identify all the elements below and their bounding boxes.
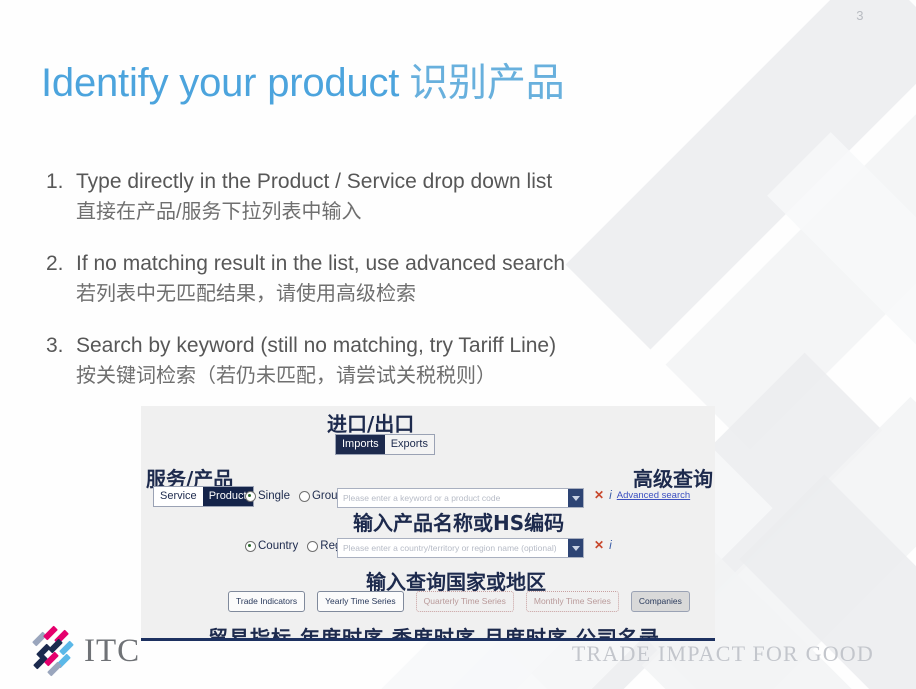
list-item: 2. If no matching result in the list, us… — [46, 249, 746, 309]
list-item-number: 1. — [46, 167, 76, 227]
advanced-search-link[interactable]: Advanced search — [617, 490, 690, 501]
list-item-number: 3. — [46, 331, 76, 391]
annotation-bottom-tabs: 贸易指标 年度时序 季度时序 月度时序 公司名录 — [208, 622, 660, 638]
radio-indicator-country[interactable] — [245, 541, 256, 552]
tab-exports[interactable]: Exports — [385, 435, 434, 454]
chevron-down-icon[interactable] — [568, 489, 583, 507]
clear-icon[interactable]: ✕ — [594, 538, 604, 552]
button-monthly-time-series[interactable]: Monthly Time Series — [526, 591, 619, 612]
list-item-text-zh: 若列表中无匹配结果，请使用高级检索 — [76, 279, 746, 309]
list-item: 3. Search by keyword (still no matching,… — [46, 331, 746, 391]
product-row-actions: ✕ i Advanced search — [594, 488, 690, 502]
instruction-list: 1. Type directly in the Product / Servic… — [46, 167, 746, 413]
radio-single[interactable]: Single — [245, 490, 290, 502]
annotation-product-hint: 输入产品名称或HS编码 — [353, 507, 564, 536]
itc-logo-text: ITC — [84, 633, 140, 670]
page-title-en: Identify your product — [41, 61, 399, 105]
footer-tagline: TRADE IMPACT FOR GOOD — [572, 641, 874, 667]
button-companies[interactable]: Companies — [631, 591, 690, 612]
country-search-input[interactable]: Please enter a country/territory or regi… — [338, 539, 568, 557]
list-item-text-zh: 直接在产品/服务下拉列表中输入 — [76, 197, 746, 227]
page-number: 3 — [856, 8, 864, 23]
list-item-text-en: Type directly in the Product / Service d… — [76, 167, 746, 197]
info-icon[interactable]: i — [609, 488, 612, 502]
page-title: Identify your product识别产品 — [41, 52, 564, 108]
radio-indicator-group[interactable] — [299, 491, 310, 502]
country-search-combo[interactable]: Please enter a country/territory or regi… — [337, 538, 584, 558]
slide: 3 Identify your product识别产品 1. Type dire… — [0, 0, 916, 689]
radio-label-single: Single — [258, 490, 290, 502]
itc-pinwheel-icon — [30, 628, 76, 674]
page-title-zh: 识别产品 — [409, 62, 564, 105]
list-item-number: 2. — [46, 249, 76, 309]
product-search-input[interactable]: Please enter a keyword or a product code — [338, 489, 568, 507]
radio-indicator-region[interactable] — [307, 541, 318, 552]
list-item-text-zh: 按关键词检索（若仍未匹配，请尝试关税税则） — [76, 361, 746, 391]
list-item-text-en: If no matching result in the list, use a… — [76, 249, 746, 279]
trade-flow-tabs: Imports Exports — [335, 434, 435, 455]
info-icon[interactable]: i — [609, 538, 612, 552]
service-product-tabs: Service Product — [153, 486, 254, 507]
country-row-actions: ✕ i — [594, 538, 612, 552]
radio-label-country: Country — [258, 540, 298, 552]
dataset-tab-buttons: Trade Indicators Yearly Time Series Quar… — [228, 591, 690, 612]
list-item: 1. Type directly in the Product / Servic… — [46, 167, 746, 227]
radio-indicator-single[interactable] — [245, 491, 256, 502]
product-search-combo[interactable]: Please enter a keyword or a product code — [337, 488, 584, 508]
tab-imports[interactable]: Imports — [336, 435, 385, 454]
list-item-text-en: Search by keyword (still no matching, tr… — [76, 331, 746, 361]
radio-country[interactable]: Country — [245, 540, 298, 552]
annotation-import-export: 进口/出口 — [327, 408, 414, 437]
product-scope-radios: Single Group — [245, 490, 344, 502]
button-yearly-time-series[interactable]: Yearly Time Series — [317, 591, 404, 612]
chevron-down-icon[interactable] — [568, 539, 583, 557]
tab-service[interactable]: Service — [154, 487, 203, 506]
embedded-app-screenshot: 进口/出口 服务/产品 高级查询 输入产品名称或HS编码 输入查询国家或地区 贸… — [141, 406, 715, 638]
clear-icon[interactable]: ✕ — [594, 488, 604, 502]
itc-logo: ITC — [30, 628, 140, 674]
button-trade-indicators[interactable]: Trade Indicators — [228, 591, 305, 612]
button-quarterly-time-series[interactable]: Quarterly Time Series — [416, 591, 514, 612]
